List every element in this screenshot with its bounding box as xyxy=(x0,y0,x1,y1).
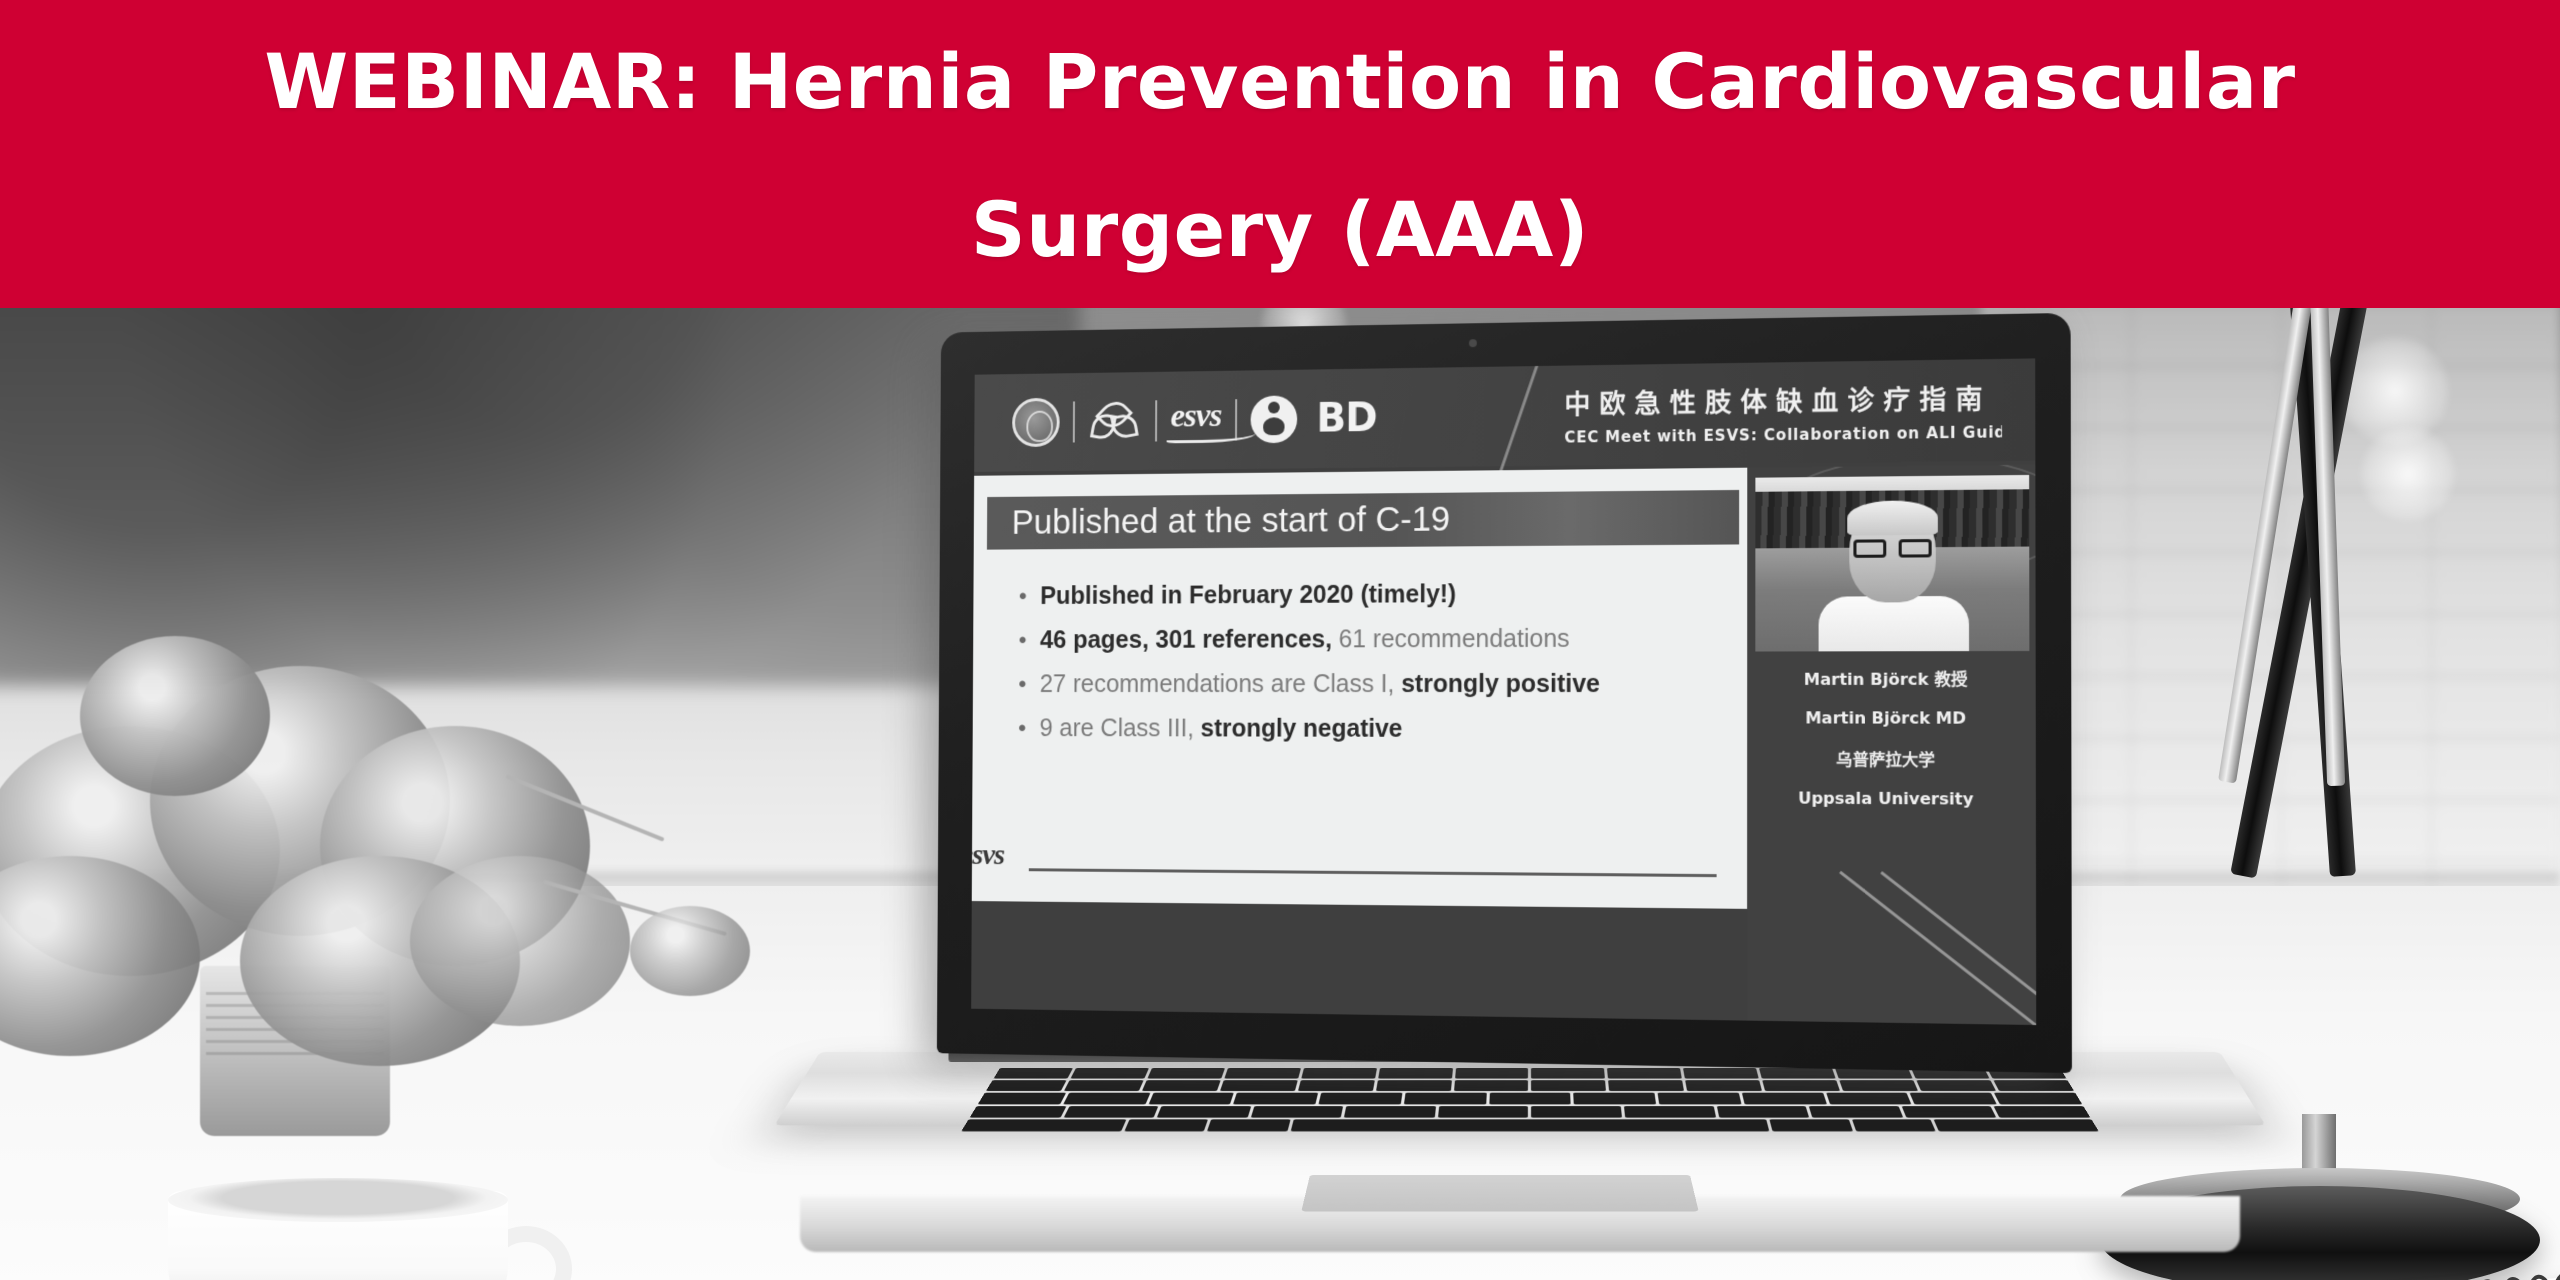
slide-bullet-list: • Published in February 2020 (timely!) •… xyxy=(1018,579,1725,761)
laptop-lid: esvs BD 中欧急性肢体缺血诊疗指南解读 CEC Meet with ESV… xyxy=(937,313,2072,1073)
page-title-line-2: Surgery (AAA) xyxy=(971,156,1589,304)
sponsor-logo-row: esvs BD xyxy=(1012,392,1377,448)
slide-title: Published at the start of C-19 xyxy=(1012,500,1451,543)
speaker-hair xyxy=(1847,500,1938,535)
list-item: • Published in February 2020 (timely!) xyxy=(1019,579,1725,611)
logo-divider xyxy=(1155,400,1157,441)
bullet-dot: • xyxy=(1018,673,1026,696)
bullet-text: 61 recommendations xyxy=(1339,625,1570,654)
speaker-video-tile xyxy=(1755,475,2029,652)
speaker-name-chinese: Martin Björck 教授 xyxy=(1747,665,2036,690)
speaker-credentials: Martin Björck 教授 Martin Björck MD 乌普萨拉大学… xyxy=(1747,665,2036,827)
slide-content-area: Published at the start of C-19 • Publish… xyxy=(972,468,1748,909)
slide-header-bar: esvs BD 中欧急性肢体缺血诊疗指南解读 CEC Meet with ESV… xyxy=(974,358,2035,471)
webcam-icon xyxy=(1469,339,1477,347)
bokeh-light xyxy=(2360,426,2456,522)
bullet-dot: • xyxy=(1019,629,1027,652)
speaker-affiliation-english: Uppsala University xyxy=(1747,788,2036,809)
bullet-dot: • xyxy=(1019,585,1027,608)
list-item: • 46 pages, 301 references, 61 recommend… xyxy=(1019,624,1725,655)
bd-sunburst-icon xyxy=(1250,395,1297,443)
decorative-diagonal xyxy=(1839,871,2036,1025)
bullet-text: 9 are Class III, xyxy=(1039,715,1200,743)
bullet-text: strongly negative xyxy=(1201,715,1403,743)
poster-canvas: esvs BD 中欧急性肢体缺血诊疗指南解读 CEC Meet with ESV… xyxy=(0,0,2560,1280)
speaker-shirt xyxy=(1819,596,1969,652)
esvs-logo-text: esvs xyxy=(1170,397,1221,443)
webinar-banner: WEBINAR: Hernia Prevention in Cardiovasc… xyxy=(0,0,2560,308)
logo-divider xyxy=(1073,401,1075,442)
laptop-trackpad[interactable] xyxy=(1301,1175,1698,1211)
deck-title-english: CEC Meet with ESVS: Collaboration on ALI… xyxy=(1564,423,2002,446)
speaker-panel: Martin Björck 教授 Martin Björck MD 乌普萨拉大学… xyxy=(1747,465,2036,1025)
bullet-text: Published in February 2020 (timely!) xyxy=(1040,580,1456,610)
speaker-name-english: Martin Björck MD xyxy=(1747,708,2036,728)
bullet-text: 46 pages, 301 references, xyxy=(1040,626,1339,654)
speaker-affiliation-chinese: 乌普萨拉大学 xyxy=(1747,746,2036,771)
deck-title-chinese: 中欧急性肢体缺血诊疗指南解读 xyxy=(1565,378,1992,421)
page-title-line-1: WEBINAR: Hernia Prevention in Cardiovasc… xyxy=(264,8,2295,156)
slide-footer-rule xyxy=(1029,868,1717,877)
bullet-dot: • xyxy=(1018,717,1026,740)
slide-footer-esvs-logo: esvs xyxy=(971,838,1004,872)
glasses-icon xyxy=(1853,539,1931,558)
cec-lotus-emblem-icon xyxy=(1088,396,1142,448)
cup-rim xyxy=(168,1178,508,1222)
potted-plant xyxy=(0,606,700,1126)
chinese-society-seal-icon xyxy=(1012,398,1060,447)
deck-header-titles: 中欧急性肢体缺血诊疗指南解读 CEC Meet with ESVS: Colla… xyxy=(1564,378,2002,446)
laptop-screen: esvs BD 中欧急性肢体缺血诊疗指南解读 CEC Meet with ESV… xyxy=(971,358,2036,1025)
list-item: • 9 are Class III, strongly negative xyxy=(1018,714,1725,744)
bullet-text: 27 recommendations are Class I, xyxy=(1040,670,1402,698)
laptop-keyboard[interactable] xyxy=(961,1068,2098,1131)
list-item: • 27 recommendations are Class I, strong… xyxy=(1018,670,1725,699)
slide-title-band: Published at the start of C-19 xyxy=(987,490,1739,550)
bd-logo-text: BD xyxy=(1316,395,1376,441)
decorative-diagonal xyxy=(1880,871,2036,1025)
bullet-text: strongly positive xyxy=(1401,670,1600,698)
